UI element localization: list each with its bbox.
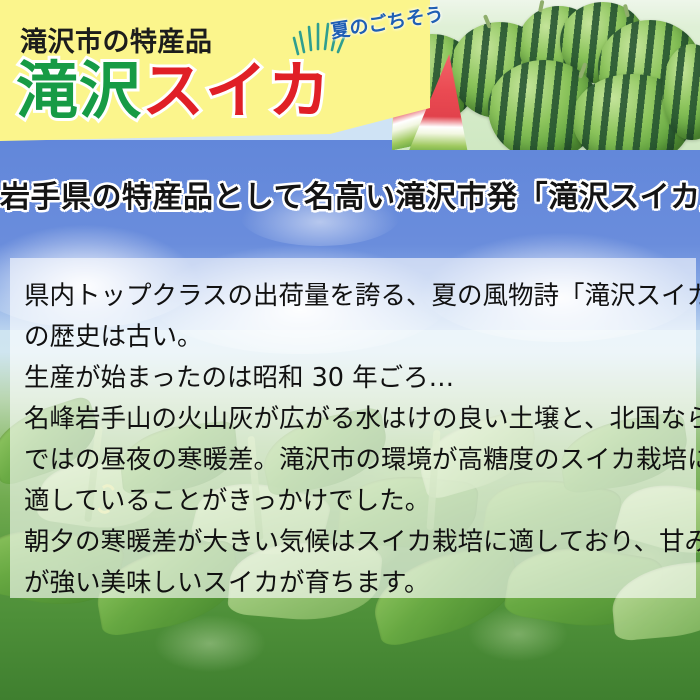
page-title: 滝沢スイカ [16, 60, 331, 122]
summer-treat-badge: 夏のごちそう [292, 2, 432, 62]
page-title-red: スイカ [142, 54, 331, 127]
page-title-green: 滝沢 [16, 54, 142, 127]
poster-root: 滝沢市の特産品 滝沢スイカ 夏のごちそう 岩手県の特産品として名高い滝沢市発「滝… [0, 0, 700, 700]
body-line: 名峰岩手山の火山灰が広がる水はけの良い土壌と、北国なら [24, 399, 684, 440]
body-line: ではの昼夜の寒暖差。滝沢市の環境が高糖度のスイカ栽培に [24, 440, 684, 481]
body-line: 県内トップクラスの出荷量を誇る、夏の風物詩「滝沢スイカ」 [24, 276, 684, 317]
body-line: 生産が始まったのは昭和 30 年ごろ… [24, 358, 684, 399]
subtitle-heading: 岩手県の特産品として名高い滝沢市発「滝沢スイカ」 [0, 172, 700, 216]
body-line: 朝夕の寒暖差が大きい気候はスイカ栽培に適しており、甘み [24, 522, 684, 563]
body-line: 適していることがきっかけでした。 [24, 481, 684, 522]
body-text: 県内トップクラスの出荷量を誇る、夏の風物詩「滝沢スイカ」 の歴史は古い。 生産が… [24, 276, 684, 604]
body-line: の歴史は古い。 [24, 317, 684, 358]
body-line: が強い美味しいスイカが育ちます。 [24, 563, 684, 604]
